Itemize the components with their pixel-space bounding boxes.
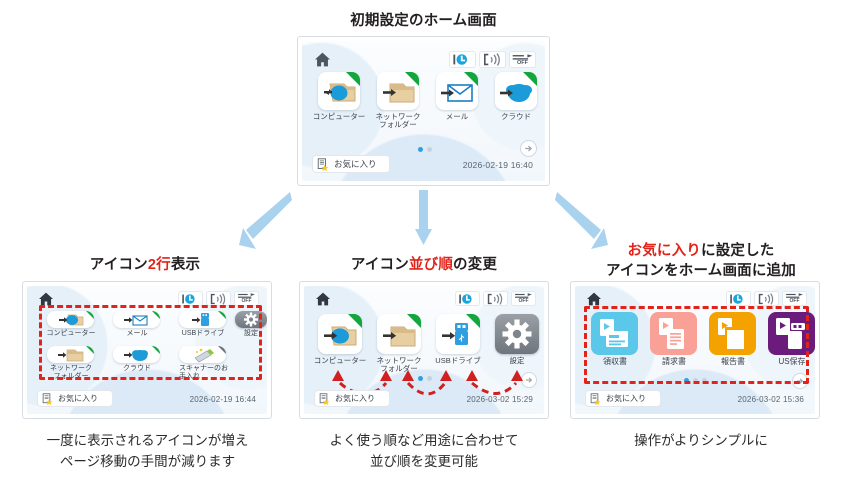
- page-dot-3[interactable]: [702, 378, 707, 383]
- favorites-button[interactable]: お気に入り: [37, 390, 113, 407]
- page-dot-2[interactable]: [427, 147, 432, 152]
- corner-flag-icon: [152, 346, 160, 354]
- corner-flag-icon: [407, 314, 421, 328]
- branch-3-title-part-1: お気に入り: [628, 243, 702, 259]
- home-icon[interactable]: [315, 292, 331, 306]
- arrow-to-middle-branch: [415, 190, 432, 245]
- page-dot-1[interactable]: [684, 378, 689, 383]
- tile-label-network-folder: ネットワーク フォルダー: [368, 113, 428, 129]
- favorite-star-icon: [590, 393, 602, 405]
- favorites-button[interactable]: お気に入り: [312, 155, 390, 173]
- tile-label-cloud: クラウド: [107, 365, 167, 373]
- status-icon-group: OFF: [455, 291, 536, 306]
- status-icon-group: OFF: [449, 51, 536, 68]
- branch-3-title-part-3: アイコンをホーム画面に追加: [565, 261, 837, 281]
- branch-3-title-part-2: に設定した: [701, 243, 775, 259]
- eco-off-icon: OFF: [234, 291, 259, 306]
- tile-network-folder[interactable]: [47, 346, 94, 363]
- corner-flag-icon: [405, 72, 419, 86]
- branch-2-title: アイコン並び順の変更: [290, 256, 558, 275]
- reorder-home-screen-panel: OFF コンピューター ネットワーク フォルダー: [299, 281, 549, 419]
- corner-flag-icon: [152, 311, 160, 319]
- tile-network-folder[interactable]: [377, 314, 421, 354]
- clock: 2026-03-02 15:36: [738, 395, 804, 404]
- tile-label-computer: コンピューター: [41, 330, 101, 338]
- page-dots[interactable]: [684, 378, 707, 383]
- default-home-screen-panel: OFF コンピューター ネットワーク フォ: [297, 36, 550, 186]
- wifi-status-icon: [479, 51, 506, 68]
- tile-label-computer: コンピューター: [305, 113, 373, 121]
- tile-computer[interactable]: [47, 311, 94, 328]
- tile-invoice[interactable]: [650, 312, 697, 355]
- usb-status-icon: [726, 291, 751, 306]
- next-arrow-icon[interactable]: [792, 373, 808, 389]
- favorite-star-icon: [319, 393, 331, 405]
- top-caption: 初期設定のホーム画面: [0, 12, 847, 31]
- page-dot-2[interactable]: [693, 378, 698, 383]
- eco-off-label: OFF: [790, 299, 800, 304]
- page-dots[interactable]: [418, 147, 432, 152]
- tile-label-settings: 設定: [225, 330, 267, 338]
- tile-email[interactable]: [113, 311, 160, 328]
- usb-status-icon: [455, 291, 480, 306]
- eco-off-label: OFF: [517, 61, 528, 66]
- branch-1-title: アイコン2行表示: [0, 256, 290, 275]
- branch-2-caption-line-1: よく使う順など用途に合わせて: [290, 430, 558, 451]
- favorites-button[interactable]: お気に入り: [585, 390, 661, 407]
- tile-receipt[interactable]: [591, 312, 638, 355]
- tile-label-usb-drive: USBドライブ: [173, 330, 233, 338]
- page-dot-1[interactable]: [418, 147, 423, 152]
- corner-flag-icon: [346, 72, 360, 86]
- wifi-status-icon: [754, 291, 779, 306]
- favorites-button-label: お気に入り: [58, 393, 98, 404]
- wifi-status-icon: [483, 291, 508, 306]
- status-bar: OFF: [302, 41, 545, 72]
- tile-label-email: メール: [427, 113, 487, 121]
- branch-1-caption-line-1: 一度に表示されるアイコンが増え: [0, 430, 295, 451]
- tile-computer[interactable]: [318, 314, 362, 354]
- eco-off-label: OFF: [242, 299, 252, 304]
- next-arrow-icon[interactable]: [520, 140, 537, 157]
- branch-2-title-part-2: 並び順: [409, 257, 453, 273]
- home-icon[interactable]: [38, 292, 54, 306]
- branch-1-caption-line-2: ページ移動の手間が減ります: [0, 451, 295, 472]
- tile-settings[interactable]: [495, 314, 539, 354]
- favorites-button-label: お気に入り: [606, 393, 646, 404]
- favorites-button-label: お気に入り: [335, 393, 375, 404]
- status-bar: OFF: [575, 286, 815, 314]
- clock: 2026-02-19 16:44: [190, 395, 256, 404]
- clock: 2026-02-19 16:40: [463, 160, 533, 170]
- corner-flag-icon: [86, 311, 94, 319]
- status-icon-group: OFF: [726, 291, 807, 306]
- corner-flag-icon: [348, 314, 362, 328]
- corner-flag-icon: [218, 311, 226, 319]
- home-icon[interactable]: [586, 292, 602, 306]
- branch-1-title-part-3: 表示: [171, 257, 200, 273]
- branch-2-caption-line-2: 並び順を変更可能: [290, 451, 558, 472]
- wifi-status-icon: [206, 291, 231, 306]
- favorites-button-label: お気に入り: [334, 158, 377, 170]
- tile-usb-drive[interactable]: [436, 314, 480, 354]
- tile-computer[interactable]: [318, 72, 360, 110]
- device-screen: OFF コンピューター ネットワーク フォ: [302, 41, 545, 181]
- corner-flag-icon: [466, 314, 480, 328]
- branch-1-caption: 一度に表示されるアイコンが増え ページ移動の手間が減ります: [0, 430, 295, 472]
- tile-usb-save[interactable]: [768, 312, 815, 355]
- usb-status-icon: [449, 51, 476, 68]
- branch-1-title-part-2: 2行: [148, 257, 171, 273]
- branch-1-title-part-1: アイコン: [90, 257, 148, 273]
- eco-off-icon: OFF: [782, 291, 807, 306]
- eco-off-icon: OFF: [509, 51, 536, 68]
- tile-network-folder[interactable]: [377, 72, 419, 110]
- device-screen: OFF 領収書: [575, 286, 815, 414]
- status-bar: OFF: [27, 286, 267, 314]
- home-icon[interactable]: [314, 52, 331, 67]
- favorite-star-icon: [317, 158, 330, 171]
- branch-3-title: お気に入りに設定した アイコンをホーム画面に追加: [565, 241, 837, 281]
- favorite-star-icon: [42, 393, 54, 405]
- tile-label-network-folder: ネットワーク フォルダー: [41, 365, 101, 380]
- tile-label-report: 報告書: [704, 358, 762, 367]
- branch-3-caption: 操作がよりシンプルに: [565, 430, 837, 451]
- favorites-button[interactable]: お気に入り: [314, 390, 390, 407]
- tile-scanner-cleaning[interactable]: [179, 346, 226, 363]
- tile-report[interactable]: [709, 312, 756, 355]
- eco-off-icon: OFF: [511, 291, 536, 306]
- branch-3-caption-line-1: 操作がよりシンプルに: [565, 430, 837, 451]
- tile-label-cloud: クラウド: [486, 113, 545, 121]
- status-icon-group: OFF: [178, 291, 259, 306]
- favorites-home-screen-panel: OFF 領収書: [570, 281, 820, 419]
- usb-status-icon: [178, 291, 203, 306]
- corner-flag-icon: [464, 72, 478, 86]
- status-bar: OFF: [304, 286, 544, 314]
- corner-flag-icon: [86, 346, 94, 354]
- tile-cloud[interactable]: [113, 346, 160, 363]
- device-screen: OFF コンピューター メール: [27, 286, 267, 414]
- tile-label-invoice: 請求書: [645, 358, 703, 367]
- arrow-to-left-branch: [239, 192, 292, 249]
- tile-email[interactable]: [436, 72, 478, 110]
- eco-off-label: OFF: [519, 299, 529, 304]
- top-caption-text: 初期設定のホーム画面: [350, 13, 497, 29]
- tile-label-scanner-cleaning: スキャナーのお 手入れ: [173, 365, 235, 380]
- branch-2-title-part-1: アイコン: [351, 257, 409, 273]
- tile-label-email: メール: [107, 330, 167, 338]
- corner-flag-icon: [218, 346, 226, 354]
- branch-2-title-part-3: の変更: [453, 257, 497, 273]
- tile-settings[interactable]: [235, 311, 267, 328]
- tile-label-receipt: 領収書: [586, 358, 644, 367]
- tile-cloud[interactable]: [495, 72, 537, 110]
- clock: 2026-03-02 15:29: [467, 395, 533, 404]
- branch-2-caption: よく使う順など用途に合わせて 並び順を変更可能: [290, 430, 558, 472]
- two-row-home-screen-panel: OFF コンピューター メール: [22, 281, 272, 419]
- tile-label-usb-save: US保存: [763, 358, 815, 367]
- device-screen: OFF コンピューター ネットワーク フォルダー: [304, 286, 544, 414]
- corner-flag-icon: [523, 72, 537, 86]
- tile-usb-drive[interactable]: [179, 311, 226, 328]
